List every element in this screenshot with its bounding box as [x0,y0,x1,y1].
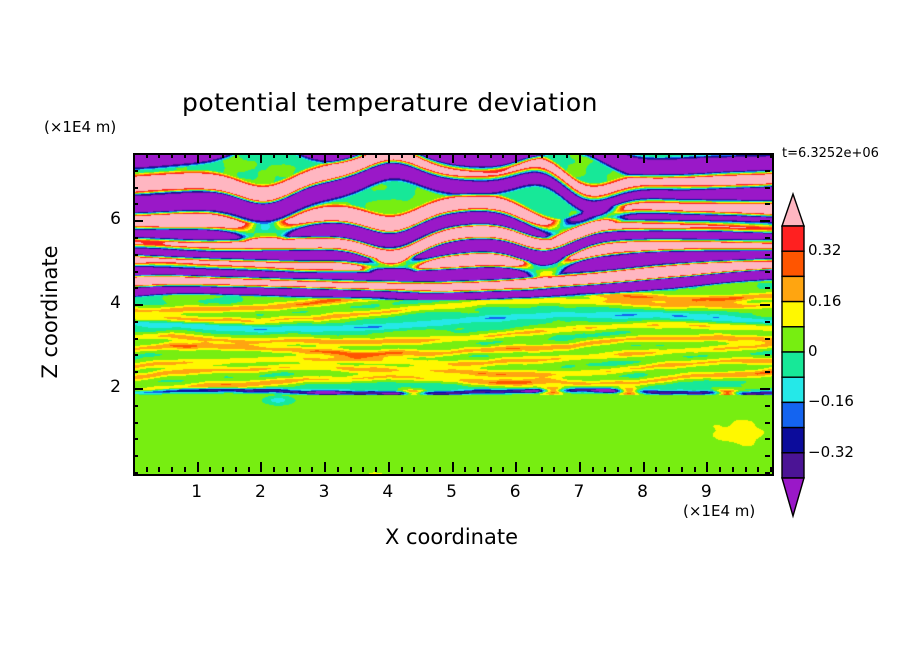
y-axis-tick [765,422,770,424]
colorbar-band [782,453,804,478]
x-axis-tick [158,153,160,158]
x-axis-tick [184,467,186,472]
plot-area [133,153,774,476]
x-axis-tick [643,462,645,472]
x-axis-tick [706,153,708,163]
x-axis-tick [337,153,339,158]
y-axis-tick [765,438,770,440]
x-axis-tick [324,153,326,163]
x-axis-tick [681,467,683,472]
y-axis-tick [765,455,770,457]
x-axis-tick [388,153,390,163]
x-tick-label: 6 [495,482,535,502]
x-axis-tick [732,153,734,158]
y-axis-tick [133,371,138,373]
y-axis-tick [765,338,770,340]
y-axis-tick [765,271,770,273]
x-axis-tick [502,467,504,472]
y-axis-tick [133,220,143,222]
x-tick-label: 7 [559,482,599,502]
y-axis-tick [765,354,770,356]
x-axis-tick [401,153,403,158]
y-tick-label: 4 [81,293,121,313]
x-axis-tick [553,467,555,472]
y-axis-tick [133,438,138,440]
x-axis-title: X coordinate [133,525,770,549]
colorbar-band [782,251,804,276]
x-axis-tick [222,467,224,472]
x-axis-tick [579,153,581,163]
x-axis-tick [235,153,237,158]
colorbar-under-arrow [782,478,804,516]
x-axis-tick [528,153,530,158]
y-axis-tick [765,287,770,289]
x-axis-tick [146,153,148,158]
x-axis-tick [706,462,708,472]
x-axis-tick [413,153,415,158]
x-axis-tick [541,153,543,158]
y-axis-tick [760,220,770,222]
x-axis-tick [464,467,466,472]
x-tick-label: 3 [304,482,344,502]
x-axis-tick [273,467,275,472]
x-tick-label: 1 [177,482,217,502]
x-axis-tick [630,153,632,158]
x-axis-tick [452,462,454,472]
x-axis-tick [439,467,441,472]
x-axis-tick [757,467,759,472]
x-axis-tick [171,467,173,472]
figure-canvas: potential temperature deviation (×1E4 m)… [0,0,904,654]
x-axis-tick [566,153,568,158]
page-title: potential temperature deviation [0,88,780,117]
x-axis-tick [260,153,262,163]
y-axis-tick [765,170,770,172]
x-axis-unit-label: (×1E4 m) [683,502,755,520]
x-axis-tick [515,153,517,163]
x-axis-tick [528,467,530,472]
x-axis-tick [222,153,224,158]
x-axis-tick [630,467,632,472]
x-axis-tick [311,153,313,158]
x-axis-tick [362,467,364,472]
y-axis-tick [133,304,143,306]
x-axis-tick [248,153,250,158]
y-axis-tick [133,271,138,273]
y-axis-tick [765,237,770,239]
x-axis-tick [745,153,747,158]
x-axis-tick [299,467,301,472]
x-axis-tick [770,467,772,472]
colorbar-band [782,428,804,453]
x-axis-tick [719,467,721,472]
x-axis-tick [592,467,594,472]
x-axis-tick [719,153,721,158]
y-axis-tick [133,203,138,205]
x-axis-tick [299,153,301,158]
y-axis-tick [765,371,770,373]
y-axis-unit-label: (×1E4 m) [44,118,116,136]
y-axis-tick [133,338,138,340]
x-axis-tick [592,153,594,158]
y-axis-tick [760,388,770,390]
x-axis-tick [273,153,275,158]
y-axis-tick [765,153,770,155]
x-axis-tick [668,153,670,158]
y-axis-tick [133,455,138,457]
y-axis-tick [133,405,138,407]
x-axis-tick [694,153,696,158]
timestamp-annotation: t=6.3252e+06 [782,146,879,161]
y-axis-tick [765,472,770,474]
x-axis-tick [426,467,428,472]
x-axis-tick [375,153,377,158]
x-axis-tick [477,153,479,158]
x-axis-tick [197,462,199,472]
x-axis-tick [515,462,517,472]
x-axis-tick [770,153,772,158]
x-axis-tick [477,467,479,472]
x-tick-label: 9 [686,482,726,502]
x-axis-tick [209,467,211,472]
x-axis-tick [401,467,403,472]
x-tick-label: 5 [432,482,472,502]
colorbar-band [782,377,804,402]
y-axis-tick [133,170,138,172]
x-axis-tick [452,153,454,163]
y-axis-tick [760,304,770,306]
contour-field [135,155,772,474]
x-axis-tick [732,467,734,472]
x-axis-tick [324,462,326,472]
y-axis-tick [765,254,770,256]
x-axis-tick [337,467,339,472]
y-axis-tick [765,187,770,189]
colorbar: 0.320.160−0.16−0.32 [776,190,896,530]
x-axis-tick [604,153,606,158]
x-axis-tick [541,467,543,472]
x-axis-tick [757,153,759,158]
y-axis-tick [133,354,138,356]
x-axis-tick [260,462,262,472]
x-axis-tick [579,462,581,472]
colorbar-over-arrow [782,194,804,226]
x-tick-label: 4 [368,482,408,502]
x-axis-tick [286,153,288,158]
x-axis-tick [553,153,555,158]
x-axis-tick [413,467,415,472]
colorbar-band [782,327,804,352]
x-axis-tick [604,467,606,472]
x-axis-tick [388,462,390,472]
x-axis-tick [286,467,288,472]
colorbar-tick-label: 0.32 [808,241,841,259]
x-axis-tick [655,467,657,472]
y-axis-tick [765,405,770,407]
colorbar-tick-label: −0.32 [808,443,854,461]
x-axis-tick [694,467,696,472]
y-axis-tick [133,321,138,323]
x-axis-tick [617,467,619,472]
x-axis-tick [146,467,148,472]
x-axis-tick [668,467,670,472]
x-axis-tick [171,153,173,158]
y-tick-label: 2 [81,377,121,397]
colorbar-band [782,276,804,301]
x-axis-tick [209,153,211,158]
x-axis-tick [311,467,313,472]
y-axis-tick [133,254,138,256]
y-axis-tick [133,237,138,239]
colorbar-band [782,352,804,377]
x-axis-tick [184,153,186,158]
y-axis-tick [133,422,138,424]
x-axis-tick [362,153,364,158]
y-axis-tick [765,203,770,205]
colorbar-band [782,226,804,251]
x-axis-tick [439,153,441,158]
y-axis-tick [765,321,770,323]
y-axis-tick [133,472,138,474]
colorbar-tick-label: 0.16 [808,292,841,310]
colorbar-band [782,302,804,327]
x-axis-tick [490,153,492,158]
x-axis-tick [566,467,568,472]
y-axis-title: Z coordinate [38,232,62,392]
y-axis-tick [133,153,138,155]
colorbar-tick-label: 0 [808,342,818,360]
y-axis-tick [133,187,138,189]
x-axis-tick [464,153,466,158]
x-tick-label: 8 [623,482,663,502]
x-axis-tick [490,467,492,472]
x-axis-tick [375,467,377,472]
x-axis-tick [655,153,657,158]
x-axis-tick [350,153,352,158]
x-axis-tick [350,467,352,472]
x-axis-tick [643,153,645,163]
x-axis-tick [426,153,428,158]
colorbar-tick-label: −0.16 [808,392,854,410]
y-axis-tick [133,287,138,289]
x-axis-tick [197,153,199,163]
y-tick-label: 6 [81,209,121,229]
x-axis-tick [681,153,683,158]
y-axis-tick [133,388,143,390]
x-axis-tick [502,153,504,158]
x-axis-tick [248,467,250,472]
x-axis-tick [235,467,237,472]
x-axis-tick [158,467,160,472]
x-axis-tick [745,467,747,472]
x-axis-tick [617,153,619,158]
x-tick-label: 2 [240,482,280,502]
colorbar-band [782,402,804,427]
